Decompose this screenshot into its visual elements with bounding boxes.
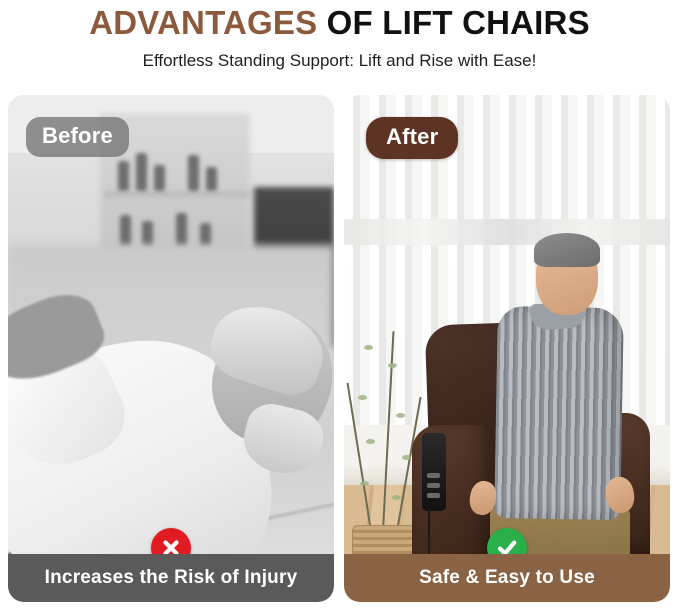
before-photo — [8, 95, 334, 602]
caption-before: Increases the Risk of Injury — [8, 554, 334, 602]
after-photo — [344, 95, 670, 602]
title-rest: OF LIFT CHAIRS — [317, 4, 589, 41]
panel-before: Before Increases the Risk of Injury — [8, 95, 334, 602]
page-title: ADVANTAGES OF LIFT CHAIRS — [0, 4, 679, 42]
advantages-of-lift-chairs-graphic: ADVANTAGES OF LIFT CHAIRS Effortless Sta… — [0, 0, 679, 610]
badge-after: After — [366, 117, 458, 159]
caption-after: Safe & Easy to Use — [344, 554, 670, 602]
badge-before: Before — [26, 117, 129, 157]
title-highlight: ADVANTAGES — [89, 4, 317, 41]
header: ADVANTAGES OF LIFT CHAIRS Effortless Sta… — [0, 0, 679, 71]
comparison-panels: Before Increases the Risk of Injury — [8, 95, 671, 602]
panel-after: After Safe & Easy to Use — [344, 95, 670, 602]
page-subtitle: Effortless Standing Support: Lift and Ri… — [0, 50, 679, 71]
